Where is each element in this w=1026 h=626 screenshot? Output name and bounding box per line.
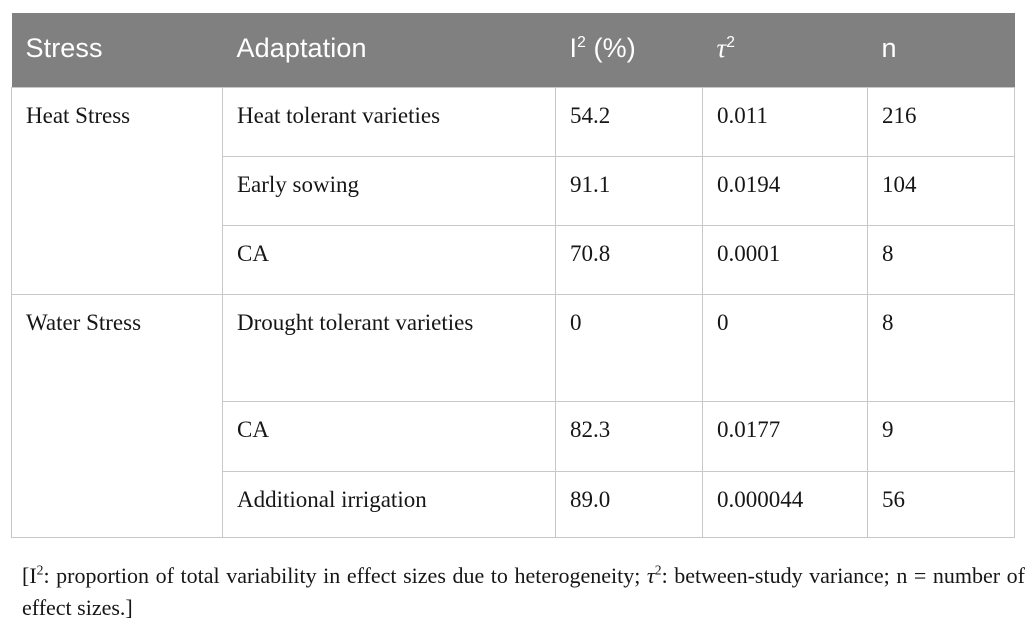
table-footnote: [I2: proportion of total variability in …	[22, 560, 1025, 625]
table-row: Heat Stress Heat tolerant varieties 54.2…	[12, 87, 1015, 156]
cell-n: 104	[868, 156, 1015, 225]
cell-i-squared: 91.1	[556, 156, 703, 225]
i-squared-superscript: 2	[577, 34, 586, 51]
column-header-tau-squared: τ2	[703, 13, 868, 87]
cell-adaptation: Additional irrigation	[223, 471, 556, 537]
cell-adaptation: Heat tolerant varieties	[223, 87, 556, 156]
cell-i-squared: 89.0	[556, 471, 703, 537]
column-header-n: n	[868, 13, 1015, 87]
cell-adaptation: Early sowing	[223, 156, 556, 225]
column-header-n-label: n	[882, 33, 897, 63]
i-squared-base: I	[570, 33, 578, 63]
column-header-stress-label: Stress	[26, 33, 103, 63]
column-header-stress: Stress	[12, 13, 223, 87]
cell-tau-squared: 0.0194	[703, 156, 868, 225]
column-header-i-squared: I2 (%)	[556, 13, 703, 87]
cell-adaptation: Drought tolerant varieties	[223, 294, 556, 401]
cell-i-squared: 70.8	[556, 225, 703, 294]
footnote-part-one: : proportion of total variability in eff…	[43, 563, 646, 588]
footnote-tau-superscript: 2	[655, 562, 662, 577]
cell-n: 216	[868, 87, 1015, 156]
tau-superscript: 2	[726, 34, 735, 51]
footnote-i-symbol: I	[29, 563, 36, 588]
cell-i-squared: 0	[556, 294, 703, 401]
table-figure: Stress Adaptation I2 (%) τ2 n Heat Stres…	[0, 0, 1026, 626]
cell-tau-squared: 0	[703, 294, 868, 401]
group-cell-water-stress: Water Stress	[12, 294, 223, 537]
header-row: Stress Adaptation I2 (%) τ2 n	[12, 13, 1015, 87]
cell-n: 9	[868, 401, 1015, 471]
table-row: Water Stress Drought tolerant varieties …	[12, 294, 1015, 401]
column-header-adaptation-label: Adaptation	[237, 33, 367, 63]
tau-base: τ	[717, 33, 727, 63]
cell-n: 56	[868, 471, 1015, 537]
cell-n: 8	[868, 294, 1015, 401]
cell-adaptation: CA	[223, 401, 556, 471]
cell-i-squared: 54.2	[556, 87, 703, 156]
group-cell-heat-stress: Heat Stress	[12, 87, 223, 294]
cell-i-squared: 82.3	[556, 401, 703, 471]
meta-analysis-table: Stress Adaptation I2 (%) τ2 n Heat Stres…	[11, 13, 1015, 538]
cell-n: 8	[868, 225, 1015, 294]
cell-tau-squared: 0.0001	[703, 225, 868, 294]
column-header-adaptation: Adaptation	[223, 13, 556, 87]
cell-adaptation: CA	[223, 225, 556, 294]
footnote-tau-symbol: τ	[647, 563, 655, 588]
cell-tau-squared: 0.0177	[703, 401, 868, 471]
table-header: Stress Adaptation I2 (%) τ2 n	[12, 13, 1015, 87]
cell-tau-squared: 0.011	[703, 87, 868, 156]
cell-tau-squared: 0.000044	[703, 471, 868, 537]
table-body: Heat Stress Heat tolerant varieties 54.2…	[12, 87, 1015, 537]
i-squared-tail: (%)	[586, 33, 636, 63]
